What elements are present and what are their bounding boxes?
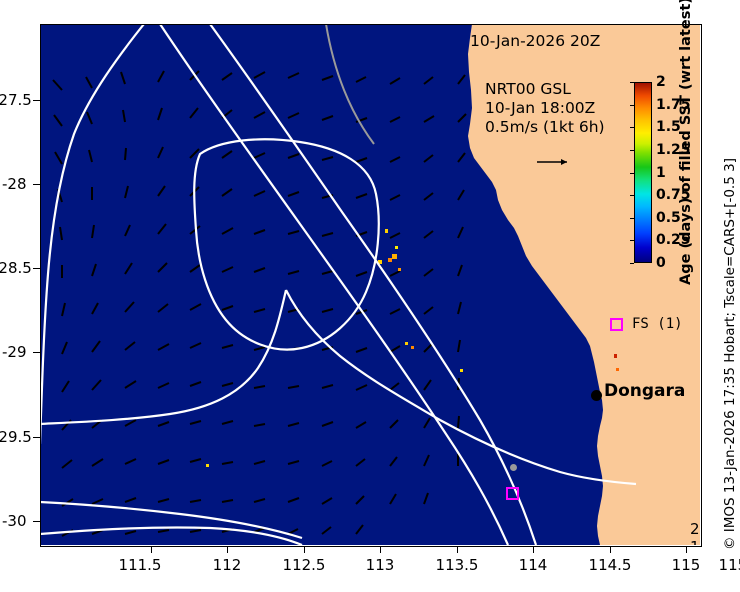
depth-label-1000m: 1000m bbox=[690, 538, 700, 545]
colorbar-label: 0 bbox=[656, 255, 666, 271]
grey-data-dot bbox=[510, 464, 517, 471]
ytick-label: -28 bbox=[2, 175, 27, 193]
ytick-label: -29 bbox=[2, 343, 27, 361]
xtick-mark bbox=[610, 546, 611, 553]
city-dot-dongara bbox=[591, 390, 602, 401]
xtick-mark bbox=[227, 546, 228, 553]
colorbar-tick bbox=[630, 173, 634, 174]
map-plot-area[interactable]: FS (1) Dongara 10-Jan-2026 20Z NRT00 GSL… bbox=[40, 24, 700, 545]
xtick-mark bbox=[686, 546, 687, 553]
xtick-label: 114 bbox=[519, 556, 548, 574]
xtick-label: 113 bbox=[366, 556, 395, 574]
sst-age-map-figure: FS (1) Dongara 10-Jan-2026 20Z NRT00 GSL… bbox=[0, 0, 740, 592]
xtick-mark bbox=[151, 546, 152, 553]
source-line-speed: 0.5m/s (1kt 6h) bbox=[485, 118, 605, 137]
colorbar-label: 2 bbox=[656, 74, 666, 90]
colorbar: 2 1.75 1.5 1.25 1 0.75 0.5 0.25 0 bbox=[634, 82, 652, 263]
depth-label-200m: 200m bbox=[690, 520, 700, 538]
vector-scale-arrow-icon bbox=[537, 156, 571, 168]
xtick-label: 112 bbox=[213, 556, 242, 574]
xtick-mark bbox=[533, 546, 534, 553]
xtick-mark bbox=[380, 546, 381, 553]
xtick-label: 115 bbox=[672, 556, 701, 574]
ytick-mark bbox=[33, 521, 40, 522]
colorbar-gradient bbox=[634, 82, 652, 263]
colorbar-tick bbox=[630, 150, 634, 151]
ytick-label: -27.5 bbox=[0, 91, 32, 109]
colorbar-tick bbox=[630, 127, 634, 128]
xtick-label: 112.5 bbox=[283, 556, 326, 574]
ytick-label: -28.5 bbox=[0, 259, 32, 277]
ytick-mark bbox=[33, 100, 40, 101]
xtick-mark bbox=[304, 546, 305, 553]
city-label-dongara: Dongara bbox=[604, 381, 685, 401]
colorbar-tick bbox=[630, 195, 634, 196]
ytick-mark bbox=[33, 352, 40, 353]
xtick-mark bbox=[457, 546, 458, 553]
source-line-time: 10-Jan 18:00Z bbox=[485, 99, 605, 118]
colorbar-title: Age (days) of filled SST (wrt latest) bbox=[678, 30, 694, 285]
ytick-label: -29.5 bbox=[0, 428, 32, 446]
xtick-label: 111.5 bbox=[119, 556, 162, 574]
site-marker-fs1[interactable] bbox=[610, 318, 623, 331]
xtick-label: 115.5 bbox=[719, 556, 740, 574]
source-line-model: NRT00 GSL bbox=[485, 80, 605, 99]
xtick-label: 114.5 bbox=[589, 556, 632, 574]
ytick-mark bbox=[33, 437, 40, 438]
xtick-label: 113.5 bbox=[436, 556, 479, 574]
ytick-mark bbox=[33, 268, 40, 269]
colorbar-tick bbox=[630, 240, 634, 241]
colorbar-tick bbox=[630, 263, 634, 264]
colorbar-tick bbox=[630, 218, 634, 219]
site-label-fs1: FS (1) bbox=[632, 316, 683, 332]
colorbar-label: 1 bbox=[656, 165, 666, 181]
credit-text: © IMOS 13-Jan-2026 17:35 Hobart; Tscale=… bbox=[722, 60, 738, 550]
colorbar-tick bbox=[630, 105, 634, 106]
depth-scale-legend: 200m 1000m bbox=[690, 520, 700, 545]
ytick-mark bbox=[33, 184, 40, 185]
site-marker-unnamed[interactable] bbox=[506, 487, 519, 500]
colorbar-tick bbox=[630, 82, 634, 83]
date-label: 10-Jan-2026 20Z bbox=[470, 32, 600, 50]
ytick-label: -30 bbox=[2, 512, 27, 530]
